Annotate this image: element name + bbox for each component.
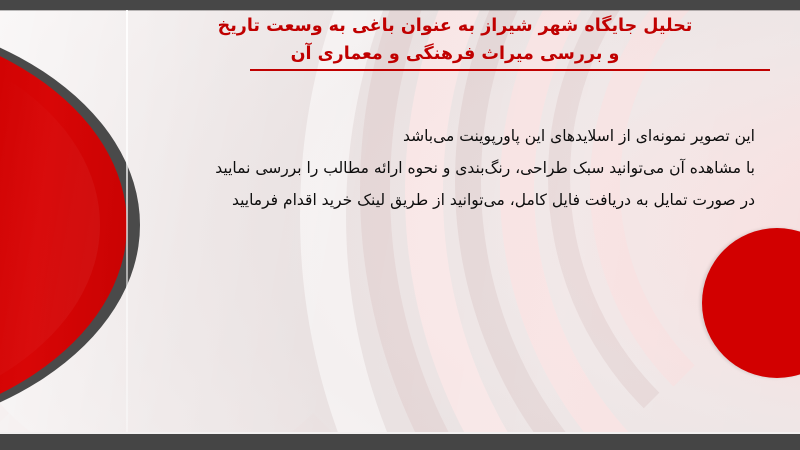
title-line-2: و بررسی میراث فرهنگی و معماری آن xyxy=(130,40,780,68)
body-line-1: این تصویر نمونه‌ای از اسلایدهای این پاور… xyxy=(130,120,755,152)
content-panel-edge xyxy=(126,10,128,432)
left-red-shape xyxy=(0,8,140,442)
title-underline xyxy=(250,69,770,71)
slide-canvas: تحلیل جایگاه شهر شیراز به عنوان باغی به … xyxy=(0,0,800,450)
body-line-3: در صورت تمایل به دریافت فایل کامل، می‌تو… xyxy=(130,184,755,216)
slide-title: تحلیل جایگاه شهر شیراز به عنوان باغی به … xyxy=(130,12,780,71)
title-line-1: تحلیل جایگاه شهر شیراز به عنوان باغی به … xyxy=(130,12,780,40)
body-line-2: با مشاهده آن می‌توانید سبک طراحی، رنگ‌بن… xyxy=(130,152,755,184)
slide-body: این تصویر نمونه‌ای از اسلایدهای این پاور… xyxy=(130,120,775,216)
